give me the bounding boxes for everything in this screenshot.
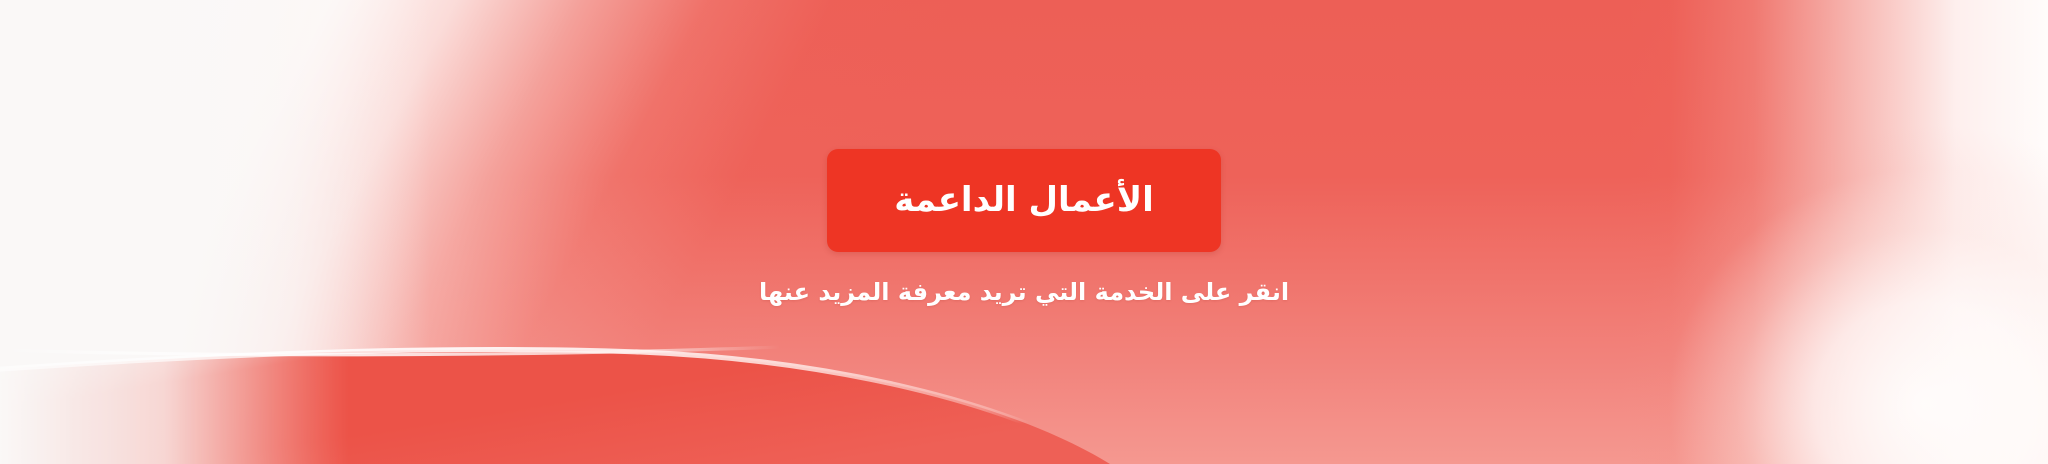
cta-button-label: الأعمال الداعمة [894, 182, 1153, 219]
banner-content: الأعمال الداعمة انقر على الخدمة التي تري… [0, 0, 2048, 464]
banner-subtitle: انقر على الخدمة التي تريد معرفة المزيد ع… [759, 278, 1289, 307]
promo-banner: الأعمال الداعمة انقر على الخدمة التي تري… [0, 0, 2048, 464]
supporting-businesses-button[interactable]: الأعمال الداعمة [827, 149, 1221, 252]
